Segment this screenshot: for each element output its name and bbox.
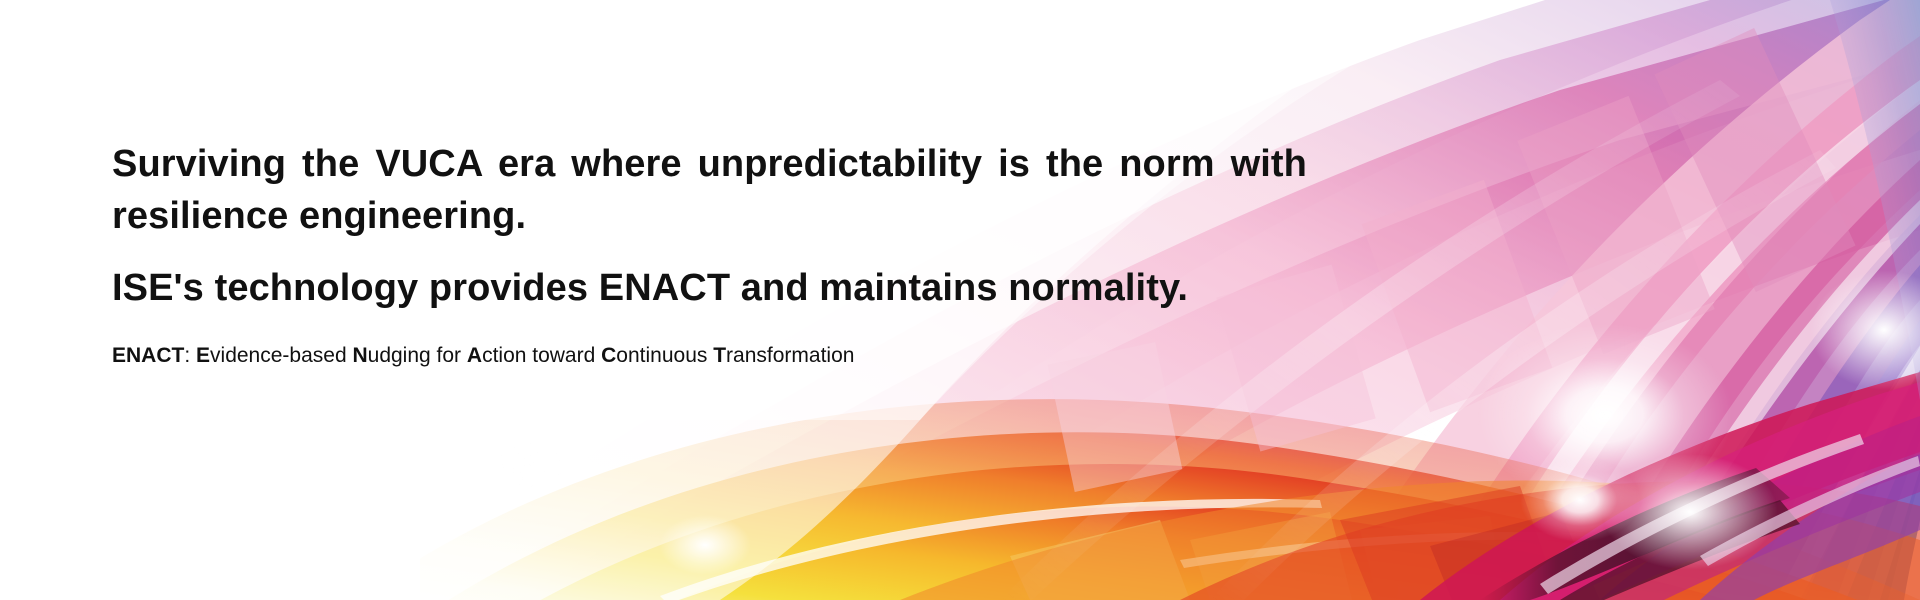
glow-crimson-bright — [1520, 458, 1640, 542]
headline-word: unpredictability — [698, 143, 983, 185]
swoosh-orange — [900, 481, 1920, 600]
glow-pink-upper — [1602, 454, 1778, 570]
expansion-cap-e: E — [196, 344, 210, 367]
swoosh-yellow-band-a — [380, 432, 1920, 600]
swoosh-red — [1180, 481, 1920, 600]
plate-red-dark — [1430, 512, 1600, 600]
headline-text-block: Surviving the VUCA era where unpredictab… — [112, 138, 1632, 370]
glow-yellow-lower — [659, 515, 751, 575]
headline-line-2: resilience engineering. — [112, 190, 1632, 242]
gold-glass-plates — [1010, 512, 1506, 600]
headline-word: norm — [1119, 143, 1214, 185]
headline-word: Surviving — [112, 143, 286, 185]
headline-word: the — [1046, 143, 1103, 185]
headline-line-1: Surviving the VUCA era where unpredictab… — [112, 138, 1307, 190]
expansion-rest-a: ction toward — [482, 344, 601, 367]
expansion-rest-t: ransformation — [726, 344, 854, 367]
swoosh-magenta-2 — [1600, 416, 1920, 600]
glow-yellow-small — [496, 443, 564, 487]
headline-word: VUCA — [375, 143, 482, 185]
magenta-hairlines — [1540, 434, 1920, 594]
expansion-rest-c: ontinuous — [616, 344, 713, 367]
headline-word: is — [998, 143, 1030, 185]
headline-word: the — [302, 143, 359, 185]
swoosh-purple-lower — [1700, 454, 1920, 600]
expansion-cap-t: T — [713, 344, 726, 367]
expansion-cap-a: A — [467, 344, 482, 367]
swoosh-crimson — [1420, 372, 1920, 600]
enact-acronym-expansion: ENACT: Evidence-based Nudging for Action… — [112, 314, 1632, 370]
swoosh-pale-yellow-top — [330, 399, 1920, 600]
strip-maroon-2 — [1560, 500, 1800, 600]
band-blue-edge — [1830, 0, 1920, 400]
gold-hairlines — [660, 499, 1591, 600]
expansion-rest-e: vidence-based — [210, 344, 352, 367]
swoosh-gold-band-c — [500, 506, 1920, 600]
swoosh-yellow-band-b — [430, 464, 1920, 600]
headline-word: era — [498, 143, 555, 185]
expansion-cap-n: N — [352, 344, 367, 367]
headline-word: with — [1231, 143, 1307, 185]
swoosh-magenta — [1500, 382, 1920, 600]
headline-line-3: ISE's technology provides ENACT and main… — [112, 262, 1632, 314]
strip-maroon — [1480, 468, 1790, 600]
expansion-rest-n: udging for — [368, 344, 467, 367]
hero-banner: Surviving the VUCA era where unpredictab… — [0, 0, 1920, 600]
acronym-label: ENACT — [112, 344, 184, 367]
acronym-separator: : — [184, 344, 196, 367]
plate-red-rect — [1340, 486, 1560, 600]
expansion-cap-c: C — [601, 344, 616, 367]
glow-purple-right — [1810, 270, 1920, 390]
headline-word: where — [571, 143, 681, 185]
